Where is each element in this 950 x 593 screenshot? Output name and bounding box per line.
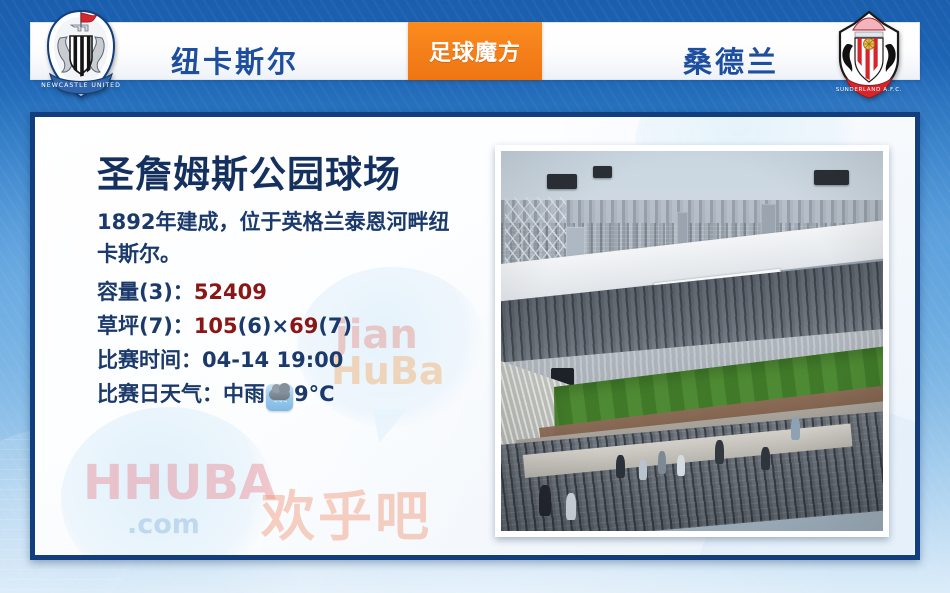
watermark-bubble-left [61,407,276,560]
weather-condition: 中雨 [223,377,265,411]
weather-row: 比赛日天气：中雨9°C [97,377,497,411]
stadium-photo-frame: NEWCASTLE UNITED [495,145,889,537]
pitch-length: 105 [194,309,238,343]
capacity-row: 容量(3)：52409 [97,275,497,309]
watermark-hhuba-sub: .com [127,509,200,540]
stadium-description: 1892年建成，位于英格兰泰恩河畔纽卡斯尔。 [97,207,457,271]
pitch-times-symbol: × [271,309,289,343]
away-team-name: 桑德兰 [683,39,779,81]
stadium-details: 圣詹姆斯公园球场 1892年建成，位于英格兰泰恩河畔纽卡斯尔。 容量(3)：52… [97,155,497,411]
pitch-width-rank: (7) [318,309,352,343]
capacity-value: 52409 [194,275,267,309]
screenshot-root: 纽卡斯尔 桑德兰 足球魔方 NEWCASTLE UNITED [0,0,950,593]
weather-temperature: 9°C [294,377,335,411]
match-time-value: 04-14 19:00 [202,343,343,377]
home-team-name: 纽卡斯尔 [171,39,299,81]
match-time-label: 比赛时间： [97,343,202,377]
svg-text:SUNDERLAND A.F.C.: SUNDERLAND A.F.C. [836,87,902,93]
watermark-hhuba-text: HHUBA [83,455,276,511]
svg-text:NEWCASTLE UNITED: NEWCASTLE UNITED [41,82,121,89]
newcastle-united-crest: NEWCASTLE UNITED [38,8,124,100]
stadium-title: 圣詹姆斯公园球场 [97,155,497,195]
site-logo-text: 足球魔方 [429,35,521,67]
site-logo[interactable]: 足球魔方 [408,22,542,80]
capacity-label: 容量(3)： [97,275,194,309]
stadium-info-card: HHUBA .com 欢乎吧 jian HuBa 圣詹姆斯公园球场 1892年建… [30,112,920,560]
watermark-huanhuba-text: 欢乎吧 [261,472,432,551]
rain-cloud-icon [266,384,293,411]
pitch-length-rank: (6) [238,309,272,343]
stadium-photo: NEWCASTLE UNITED [501,151,883,531]
weather-label: 比赛日天气： [97,377,223,411]
pitch-width: 69 [289,309,318,343]
pitch-row: 草坪(7)：105(6)×69(7) [97,309,497,343]
match-time-row: 比赛时间：04-14 19:00 [97,343,497,377]
photo-vignette [501,151,883,531]
pitch-label: 草坪(7)： [97,309,194,343]
sunderland-afc-crest: SUNDERLAND A.F.C. [826,8,912,100]
